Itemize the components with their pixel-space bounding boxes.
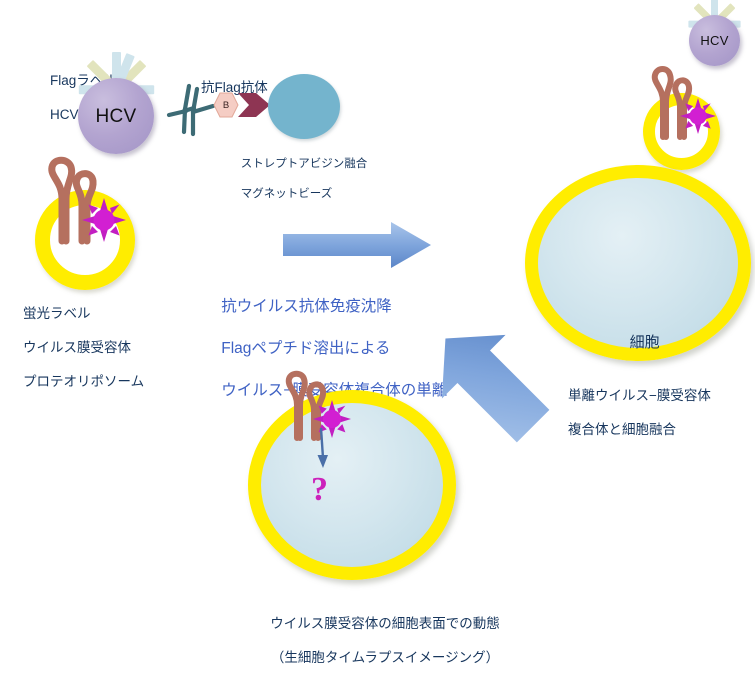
process-arrow-right xyxy=(283,222,431,268)
cell-label-text: 細胞 xyxy=(630,334,660,351)
proteoliposome-caption-line2: ウイルス膜受容体 xyxy=(23,340,131,355)
question-mark: ? xyxy=(311,473,328,507)
magnetic-bead xyxy=(268,74,340,139)
streptavidin-wedge-icon xyxy=(238,93,270,117)
hcv-particle-caption-2: HCV xyxy=(689,33,740,48)
hcv-virus-particle-left: HCV xyxy=(62,62,170,170)
imaging-caption-line1: ウイルス膜受容体の細胞表面での動態 xyxy=(270,616,500,631)
imaging-caption-line2: （生細胞タイムラプスイメージング） xyxy=(271,650,499,665)
hcv-particle-caption: HCV xyxy=(78,106,154,128)
proteoliposome-caption: 蛍光ラベル ウイルス膜受容体 プロテオリポソーム xyxy=(8,288,144,407)
biotin-letter: B xyxy=(213,92,239,118)
process-description-line2: Flagペプチド溶出による xyxy=(221,340,390,357)
figure-canvas: Flagラベル HCV HCV xyxy=(0,0,755,650)
streptavidin-bead-caption-line2: マグネットビーズ xyxy=(241,188,332,200)
internalization-arrow xyxy=(313,428,333,470)
target-cell-bottom xyxy=(248,390,456,580)
fluorophore-label-right xyxy=(680,98,716,134)
fusion-caption-line1: 単離ウイルス−膜受容体 xyxy=(568,388,711,403)
cell-label-right: 細胞 xyxy=(613,317,660,368)
fusion-caption: 単離ウイルス−膜受容体 複合体と細胞融合 xyxy=(553,370,711,455)
fusion-caption-line2: 複合体と細胞融合 xyxy=(568,422,676,437)
proteoliposome-caption-line3: プロテオリポソーム xyxy=(23,374,144,389)
proteoliposome-caption-line1: 蛍光ラベル xyxy=(23,306,91,321)
fluorophore-label-left xyxy=(82,198,126,242)
imaging-caption: ウイルス膜受容体の細胞表面での動態 （生細胞タイムラプスイメージング） xyxy=(0,598,755,683)
streptavidin-bead-caption: ストレプトアビジン融合 マグネットビーズ xyxy=(228,142,367,217)
streptavidin-bead-caption-line1: ストレプトアビジン融合 xyxy=(241,158,368,170)
process-description-line1: 抗ウイルス抗体免疫沈降 xyxy=(221,298,392,315)
hcv-spike xyxy=(711,0,718,16)
biotin-hexagon-icon: B xyxy=(213,92,239,118)
process-arrow-diagonal xyxy=(425,318,555,448)
